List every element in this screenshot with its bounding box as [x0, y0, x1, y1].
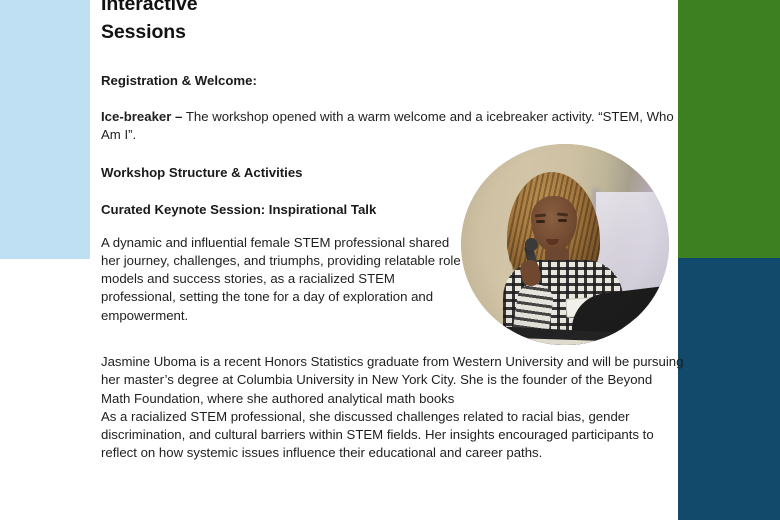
speaker-bio-paragraph: Jasmine Uboma is a recent Honors Statist… — [101, 353, 685, 408]
icebreaker-paragraph: Ice-breaker – The workshop opened with a… — [101, 108, 683, 145]
right-accent-band-green — [678, 0, 780, 258]
speaker-bio-block: Jasmine Uboma is a recent Honors Statist… — [101, 353, 685, 463]
keynote-paragraph: A dynamic and influential female STEM pr… — [101, 234, 461, 325]
speaker-photo-image — [461, 144, 669, 345]
icebreaker-lead: Ice-breaker – — [101, 109, 182, 124]
speaker-photo — [461, 144, 669, 345]
speaker-bio-paragraph-continued: As a racialized STEM professional, she d… — [101, 408, 685, 463]
spacer — [101, 89, 679, 108]
spacer — [101, 46, 679, 72]
registration-heading: Registration & Welcome: — [101, 72, 679, 89]
photo-vignette — [461, 144, 669, 345]
right-accent-band-blue — [678, 258, 780, 520]
icebreaker-body: The workshop opened with a warm welcome … — [101, 109, 674, 142]
slide-title: Interactive Sessions — [101, 0, 679, 46]
left-accent-band — [0, 0, 90, 259]
slide-canvas: Interactive Sessions Registration & Welc… — [0, 0, 780, 520]
